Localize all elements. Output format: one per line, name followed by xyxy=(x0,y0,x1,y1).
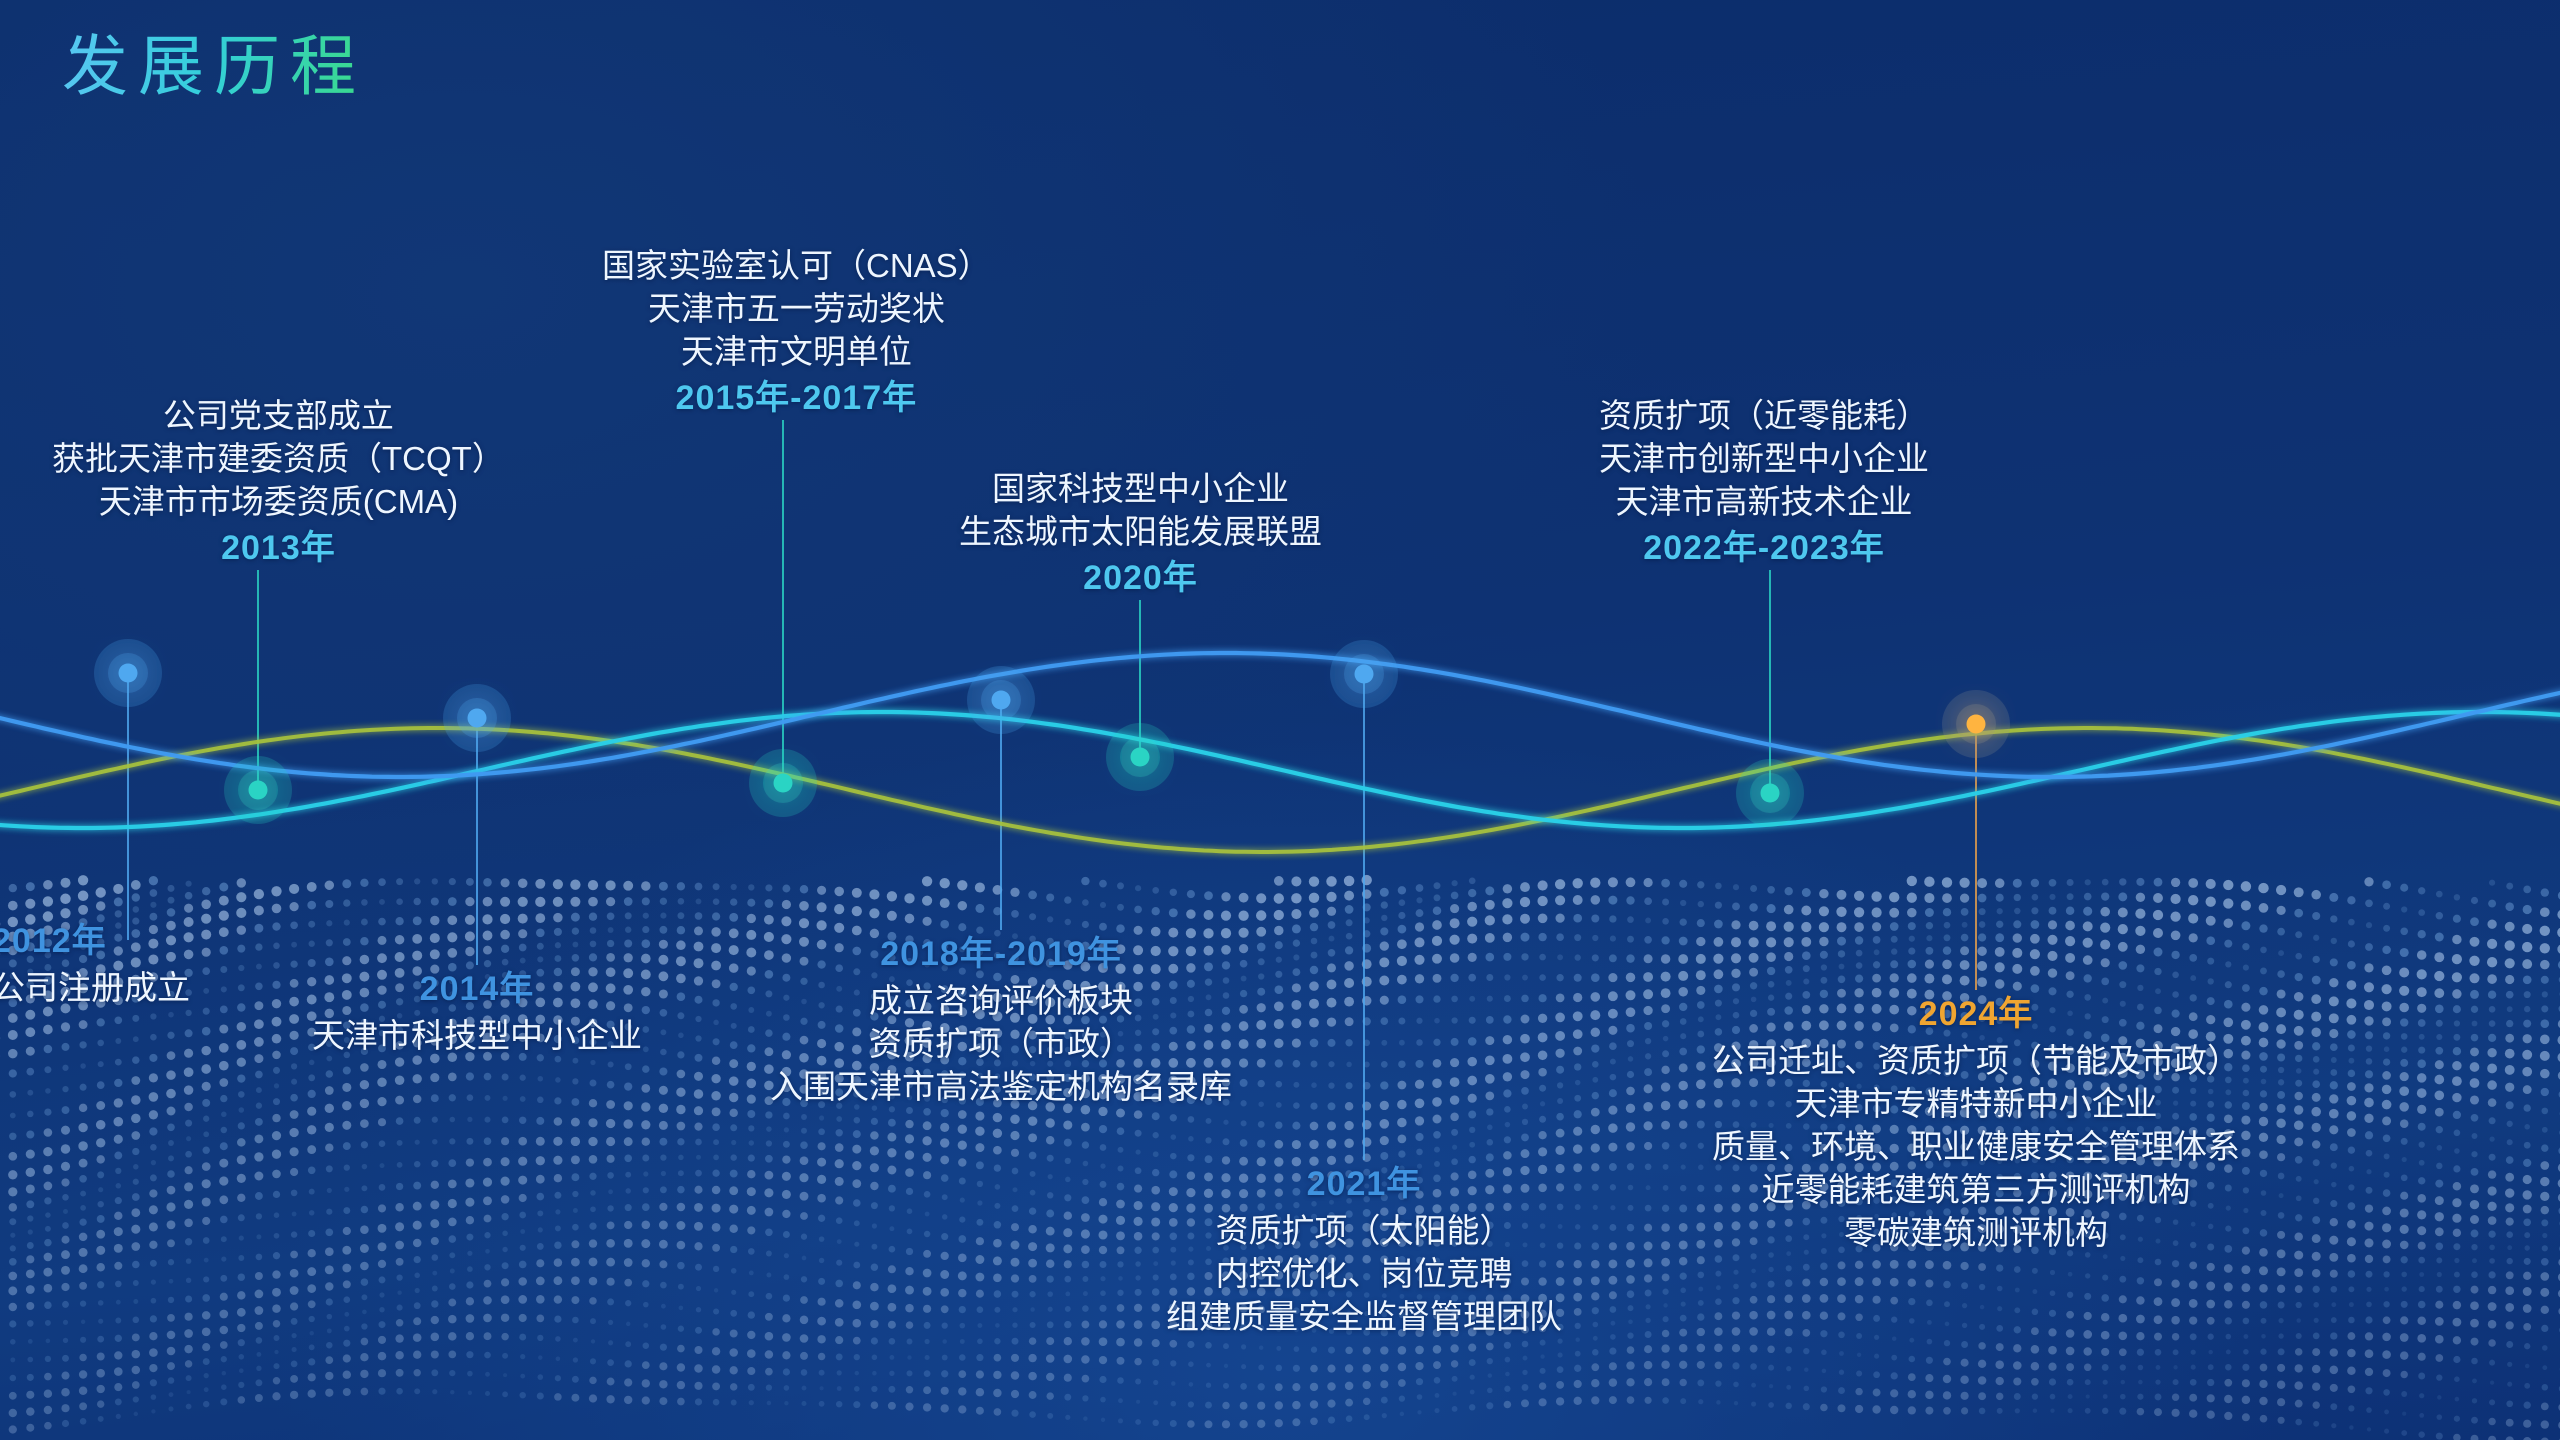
milestone-text: 2021年资质扩项（太阳能）内控优化、岗位竞聘组建质量安全监督管理团队 xyxy=(1166,1162,1562,1339)
milestone-m2018_2019: 2018年-2019年成立咨询评价板块资质扩项（市政）入围天津市高法鉴定机构名录… xyxy=(770,930,1232,1109)
milestone-year: 2012年 xyxy=(0,919,190,963)
milestone-line: 天津市文明单位 xyxy=(602,331,991,374)
milestone-line: 天津市市场委资质(CMA) xyxy=(52,481,505,524)
milestone-year: 2021年 xyxy=(1166,1162,1562,1206)
milestone-line: 资质扩项（近零能耗） xyxy=(1599,395,1929,438)
milestone-line: 资质扩项（太阳能） xyxy=(1166,1210,1562,1253)
milestone-line: 组建质量安全监督管理团队 xyxy=(1166,1296,1562,1339)
milestone-text: 2012年公司注册成立 xyxy=(0,919,190,1010)
milestone-year: 2014年 xyxy=(312,967,642,1011)
milestone-line: 成立咨询评价板块 xyxy=(770,980,1232,1023)
timeline-canvas: 发展历程 2012年公司注册成立公司党支部成立获批天津市建委资质（TCQT）天津… xyxy=(0,0,2560,1440)
milestone-text: 国家实验室认可（CNAS）天津市五一劳动奖状天津市文明单位2015年-2017年 xyxy=(602,245,991,420)
page-title: 发展历程 xyxy=(62,30,366,103)
milestone-line: 生态城市太阳能发展联盟 xyxy=(959,511,1322,554)
milestone-text: 公司党支部成立获批天津市建委资质（TCQT）天津市市场委资质(CMA)2013年 xyxy=(52,395,505,570)
milestone-line: 公司迁址、资质扩项（节能及市政） xyxy=(1712,1040,2240,1083)
milestone-line: 零碳建筑测评机构 xyxy=(1712,1212,2240,1255)
milestone-line: 国家实验室认可（CNAS） xyxy=(602,245,991,288)
milestone-year: 2015年-2017年 xyxy=(602,376,991,420)
wave-curves xyxy=(0,653,2560,852)
milestone-text: 资质扩项（近零能耗）天津市创新型中小企业天津市高新技术企业2022年-2023年 xyxy=(1599,395,1929,570)
milestone-line: 天津市科技型中小企业 xyxy=(312,1015,642,1058)
milestone-m2015_2017: 国家实验室认可（CNAS）天津市五一劳动奖状天津市文明单位2015年-2017年 xyxy=(602,245,991,420)
milestone-text: 2024年公司迁址、资质扩项（节能及市政）天津市专精特新中小企业质量、环境、职业… xyxy=(1712,992,2240,1255)
milestone-text: 国家科技型中小企业生态城市太阳能发展联盟2020年 xyxy=(959,468,1322,600)
milestone-m2021: 2021年资质扩项（太阳能）内控优化、岗位竞聘组建质量安全监督管理团队 xyxy=(1166,1160,1562,1339)
milestone-line: 质量、环境、职业健康安全管理体系 xyxy=(1712,1126,2240,1169)
milestone-m2020: 国家科技型中小企业生态城市太阳能发展联盟2020年 xyxy=(959,468,1322,600)
milestone-line: 天津市创新型中小企业 xyxy=(1599,438,1929,481)
milestone-line: 天津市专精特新中小企业 xyxy=(1712,1083,2240,1126)
milestone-m2014: 2014年天津市科技型中小企业 xyxy=(312,965,642,1058)
milestone-line: 获批天津市建委资质（TCQT） xyxy=(52,438,505,481)
milestone-m2022_2023: 资质扩项（近零能耗）天津市创新型中小企业天津市高新技术企业2022年-2023年 xyxy=(1599,395,1929,570)
milestone-m2013: 公司党支部成立获批天津市建委资质（TCQT）天津市市场委资质(CMA)2013年 xyxy=(52,395,505,570)
milestone-m2012: 2012年公司注册成立 xyxy=(0,917,190,1010)
milestone-year: 2020年 xyxy=(959,556,1322,600)
milestone-line: 天津市高新技术企业 xyxy=(1599,481,1929,524)
milestone-text: 2014年天津市科技型中小企业 xyxy=(312,967,642,1058)
milestone-year: 2013年 xyxy=(52,526,505,570)
milestone-line: 国家科技型中小企业 xyxy=(959,468,1322,511)
milestone-line: 公司党支部成立 xyxy=(52,395,505,438)
milestone-line: 公司注册成立 xyxy=(0,967,190,1010)
milestone-line: 天津市五一劳动奖状 xyxy=(602,288,991,331)
milestone-year: 2018年-2019年 xyxy=(770,932,1232,976)
milestone-line: 内控优化、岗位竞聘 xyxy=(1166,1253,1562,1296)
milestone-text: 2018年-2019年成立咨询评价板块资质扩项（市政）入围天津市高法鉴定机构名录… xyxy=(770,932,1232,1109)
milestone-line: 资质扩项（市政） xyxy=(770,1023,1232,1066)
milestone-year: 2022年-2023年 xyxy=(1599,526,1929,570)
milestone-line: 近零能耗建筑第三方测评机构 xyxy=(1712,1169,2240,1212)
milestone-year: 2024年 xyxy=(1712,992,2240,1036)
milestone-m2024: 2024年公司迁址、资质扩项（节能及市政）天津市专精特新中小企业质量、环境、职业… xyxy=(1712,990,2240,1255)
milestone-line: 入围天津市高法鉴定机构名录库 xyxy=(770,1066,1232,1109)
